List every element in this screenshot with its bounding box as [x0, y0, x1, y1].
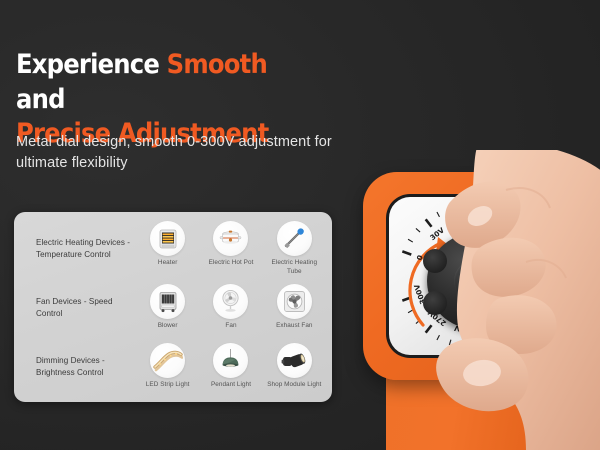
list-item-label: Electric Hot Pot: [209, 259, 254, 267]
card-row: Fan Devices - Speed Control: [20, 279, 326, 337]
hot-pot-icon: [213, 221, 248, 256]
list-item: Electric Heating Tube: [264, 221, 324, 276]
card-row: Electric Heating Devices - Temperature C…: [20, 220, 326, 278]
voltage-regulator-device: 030V60V90V120V150V180V210V240V270V300V: [330, 150, 600, 450]
pendant-light-icon: [213, 343, 248, 378]
headline-line1-accent: Smooth: [167, 49, 267, 80]
led-strip-icon: [150, 343, 185, 378]
list-item-label: Exhaust Fan: [276, 322, 312, 330]
list-item: Exhaust Fan: [264, 284, 324, 330]
heater-icon: [150, 221, 185, 256]
row-items: LED Strip Light Pendant Light: [136, 343, 326, 389]
list-item: Shop Module Light: [264, 343, 324, 389]
list-item: Blower: [138, 284, 198, 330]
list-item: Heater: [138, 221, 198, 267]
list-item-label: Pendant Light: [211, 381, 251, 389]
list-item: LED Strip Light: [138, 343, 198, 389]
card-row: Dimming Devices - Brightness Control: [20, 338, 326, 396]
fan-icon: [213, 284, 248, 319]
device-compatibility-card: Electric Heating Devices - Temperature C…: [14, 212, 332, 402]
list-item-label: Blower: [158, 322, 178, 330]
list-item-label: Shop Module Light: [267, 381, 321, 389]
list-item-label: Electric Heating Tube: [264, 259, 324, 276]
promo-banner: Experience Smooth and Precise Adjustment…: [0, 0, 600, 450]
row-label: Dimming Devices - Brightness Control: [20, 355, 136, 378]
row-label: Fan Devices - Speed Control: [20, 296, 136, 319]
row-items: Heater: [136, 221, 326, 276]
shop-module-light-icon: [277, 343, 312, 378]
row-label: Electric Heating Devices - Temperature C…: [20, 237, 136, 260]
list-item-label: LED Strip Light: [146, 381, 190, 389]
exhaust-fan-icon: [277, 284, 312, 319]
row-items: Blower: [136, 284, 326, 330]
page-subtitle: Metal dial design, smooth 0-300V adjustm…: [16, 132, 346, 174]
list-item: Pendant Light: [201, 343, 261, 389]
heating-tube-icon: [277, 221, 312, 256]
list-item-label: Fan: [225, 322, 236, 330]
hand-overlay: [330, 150, 600, 450]
headline-line1-part2: and: [16, 84, 65, 115]
blower-icon: [150, 284, 185, 319]
list-item: Electric Hot Pot: [201, 221, 261, 267]
list-item: Fan: [201, 284, 261, 330]
headline-line1-part1: Experience: [16, 49, 167, 80]
list-item-label: Heater: [158, 259, 177, 267]
